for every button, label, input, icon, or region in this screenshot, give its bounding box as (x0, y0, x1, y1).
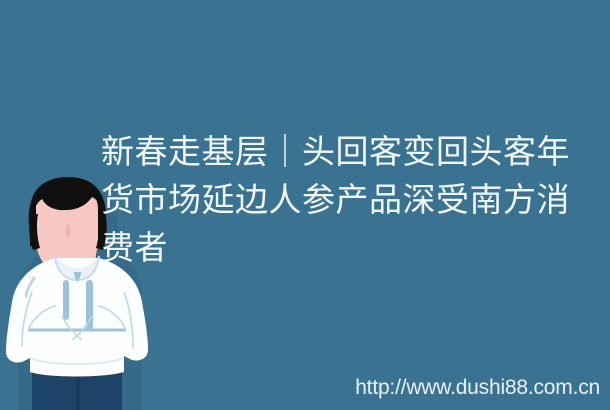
watermark-url: http://www.dushi88.com.cn (355, 376, 600, 400)
promo-banner: 新春走基层｜头回客变回头客年货市场延边人参产品深受南方消费者 http://ww… (0, 0, 610, 410)
page-title: 新春走基层｜头回客变回头客年货市场延边人参产品深受南方消费者 (101, 128, 601, 272)
